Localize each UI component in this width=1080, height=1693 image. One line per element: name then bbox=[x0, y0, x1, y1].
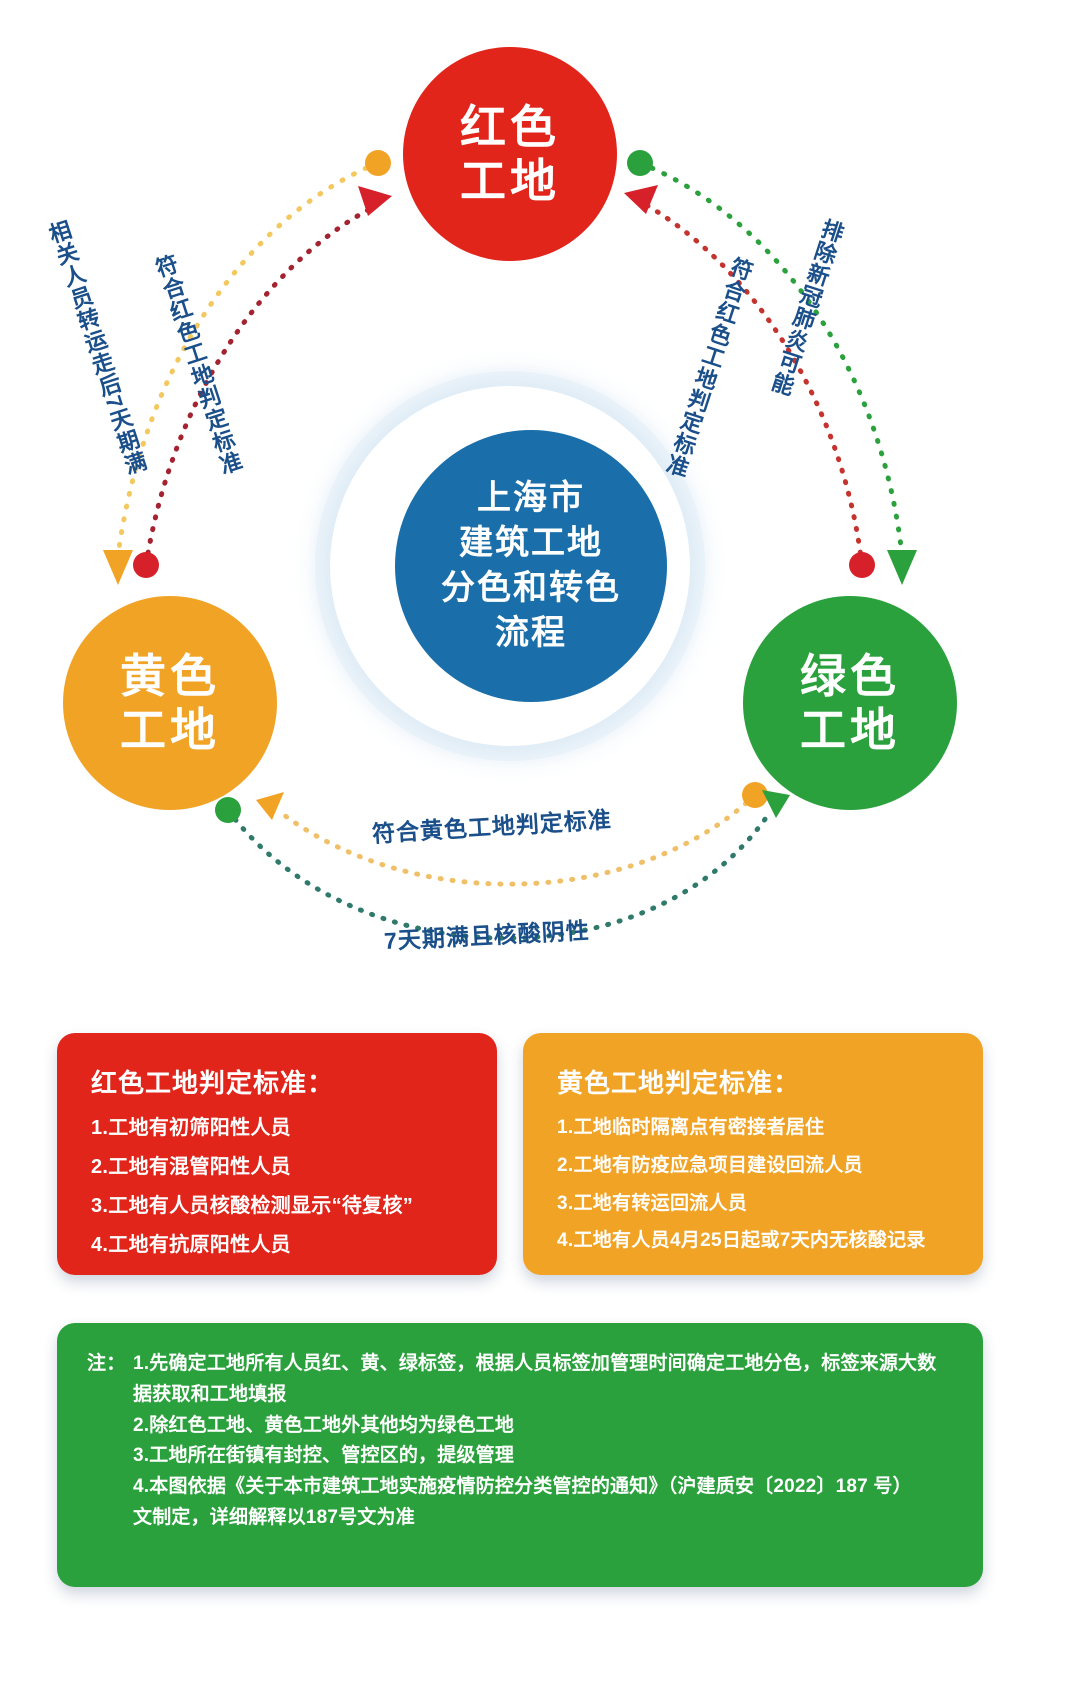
note-item-2-prefix: 2. bbox=[133, 1415, 149, 1436]
edge-red-to-yellow-start-dot bbox=[365, 150, 391, 176]
note-item-1-line-1: 1.先确定工地所有人员红、黄、绿标签，根据人员标签加管理时间确定工地分色，标签来… bbox=[133, 1349, 953, 1380]
edge-yellow-to-green-start-dot bbox=[215, 797, 241, 823]
edge-yellow-to-red-start-dot bbox=[133, 552, 159, 578]
note-row: 文制定，详细解释以187号文为准 bbox=[87, 1503, 953, 1534]
red-criteria-item: 4.工地有抗原阳性人员 bbox=[91, 1233, 467, 1258]
edge-yellow-to-red-arrowhead bbox=[358, 186, 392, 216]
node-yellow-site[interactable]: 黄色 工地 bbox=[63, 596, 277, 810]
hub-line-2: 建筑工地 bbox=[459, 521, 603, 566]
node-green-line-1: 绿色 bbox=[800, 649, 900, 703]
hub-line-4: 流程 bbox=[495, 611, 567, 656]
note-row: 2.除红色工地、黄色工地外其他均为绿色工地 bbox=[87, 1411, 953, 1442]
note-item-2-text: 除红色工地、黄色工地外其他均为绿色工地 bbox=[149, 1415, 514, 1436]
node-green-site[interactable]: 绿色 工地 bbox=[743, 596, 957, 810]
note-item-4-text: 本图依据《关于本市建筑工地实施疫情防控分类管控的通知》（沪建质安〔2022〕18… bbox=[149, 1476, 912, 1497]
hub-center-title: 上海市 建筑工地 分色和转色 流程 bbox=[395, 430, 667, 702]
note-item-1-text: 先确定工地所有人员红、黄、绿标签，根据人员标签加管理时间确定工地分色，标签来源大… bbox=[149, 1353, 936, 1374]
red-criteria-title: 红色工地判定标准： bbox=[91, 1063, 467, 1100]
note-row: 4.本图依据《关于本市建筑工地实施疫情防控分类管控的通知》（沪建质安〔2022〕… bbox=[87, 1472, 953, 1503]
infographic-page: 上海市 建筑工地 分色和转色 流程 红色 工地 黄色 工地 绿色 工地 相关人员… bbox=[0, 0, 1080, 1693]
note-item-1-prefix: 1. bbox=[133, 1353, 149, 1374]
yellow-criteria-item: 4.工地有人员4月25日起或7天内无核酸记录 bbox=[557, 1229, 953, 1253]
edge-red-to-yellow-arrowhead bbox=[103, 550, 133, 585]
edge-yellow-to-green-arrowhead bbox=[762, 790, 790, 818]
notes-card: 注： 1.先确定工地所有人员红、黄、绿标签，根据人员标签加管理时间确定工地分色，… bbox=[57, 1323, 983, 1587]
hub-line-1: 上海市 bbox=[477, 476, 585, 521]
note-item-4-line-1: 4.本图依据《关于本市建筑工地实施疫情防控分类管控的通知》（沪建质安〔2022〕… bbox=[133, 1472, 953, 1503]
edge-red-to-green-start-dot bbox=[627, 150, 653, 176]
note-item-3: 3.工地所在街镇有封控、管控区的，提级管理 bbox=[133, 1441, 953, 1472]
note-item-4-prefix: 4. bbox=[133, 1476, 149, 1497]
yellow-criteria-item: 2.工地有防疫应急项目建设回流人员 bbox=[557, 1154, 953, 1178]
note-item-3-text: 工地所在街镇有封控、管控区的，提级管理 bbox=[149, 1445, 514, 1466]
note-item-4-line-2: 文制定，详细解释以187号文为准 bbox=[133, 1503, 953, 1534]
red-criteria-item: 3.工地有人员核酸检测显示“待复核” bbox=[91, 1194, 467, 1219]
yellow-criteria-item: 1.工地临时隔离点有密接者居住 bbox=[557, 1116, 953, 1140]
note-row: 注： 1.先确定工地所有人员红、黄、绿标签，根据人员标签加管理时间确定工地分色，… bbox=[87, 1349, 953, 1380]
yellow-criteria-item: 3.工地有转运回流人员 bbox=[557, 1192, 953, 1216]
note-item-3-prefix: 3. bbox=[133, 1445, 149, 1466]
hub-line-3: 分色和转色 bbox=[441, 566, 621, 611]
node-yellow-line-1: 黄色 bbox=[120, 649, 220, 703]
node-yellow-line-2: 工地 bbox=[120, 703, 220, 757]
node-green-line-2: 工地 bbox=[800, 703, 900, 757]
edge-green-to-yellow-start-dot bbox=[742, 782, 768, 808]
yellow-criteria-card: 黄色工地判定标准： 1.工地临时隔离点有密接者居住 2.工地有防疫应急项目建设回… bbox=[523, 1033, 983, 1275]
red-criteria-item: 2.工地有混管阳性人员 bbox=[91, 1155, 467, 1180]
flow-diagram: 上海市 建筑工地 分色和转色 流程 红色 工地 黄色 工地 绿色 工地 相关人员… bbox=[0, 0, 1080, 1010]
note-row: 据获取和工地填报 bbox=[87, 1380, 953, 1411]
node-red-line-2: 工地 bbox=[460, 154, 560, 208]
red-criteria-item: 1.工地有初筛阳性人员 bbox=[91, 1116, 467, 1141]
edge-green-to-red-arrowhead bbox=[624, 185, 658, 214]
note-row: 3.工地所在街镇有封控、管控区的，提级管理 bbox=[87, 1441, 953, 1472]
node-red-line-1: 红色 bbox=[460, 100, 560, 154]
edge-green-to-red-start-dot bbox=[849, 552, 875, 578]
yellow-criteria-title: 黄色工地判定标准： bbox=[557, 1063, 953, 1100]
note-item-1-line-2: 据获取和工地填报 bbox=[133, 1380, 953, 1411]
red-criteria-card: 红色工地判定标准： 1.工地有初筛阳性人员 2.工地有混管阳性人员 3.工地有人… bbox=[57, 1033, 497, 1275]
notes-label: 注： bbox=[87, 1349, 133, 1380]
node-red-site[interactable]: 红色 工地 bbox=[403, 47, 617, 261]
edge-red-to-green-arrowhead bbox=[887, 550, 917, 585]
edge-green-to-yellow-arrowhead bbox=[256, 792, 284, 820]
note-item-2: 2.除红色工地、黄色工地外其他均为绿色工地 bbox=[133, 1411, 953, 1442]
